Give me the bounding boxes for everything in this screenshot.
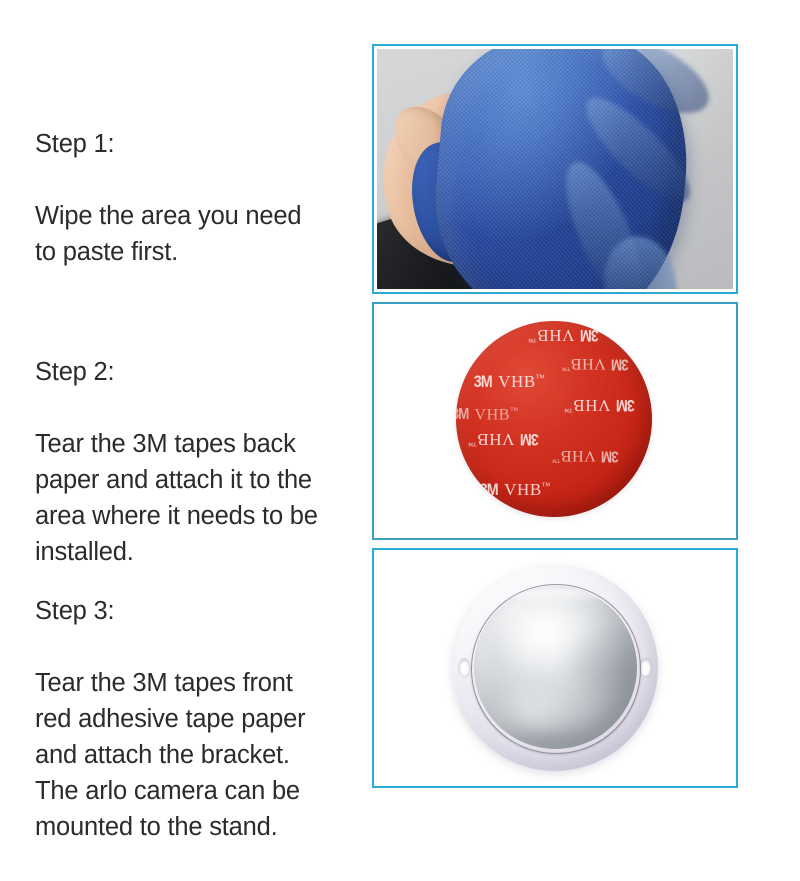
vhb-watermark-brand: 3M (521, 431, 539, 448)
vhb-watermark-tm: ™ (510, 406, 518, 415)
vhb-watermark-brand: 3M (456, 407, 468, 423)
vhb-watermark: 3M VHB™ (468, 431, 541, 448)
steps-text-column: Step 1: Wipe the area you need to paste … (0, 0, 372, 800)
step-2-body: Tear the 3M tapes back paper and attach … (35, 426, 365, 570)
vhb-watermark-tm: ™ (536, 372, 545, 382)
step-1-heading: Step 1: (35, 126, 365, 162)
vhb-watermark-tm: ™ (564, 405, 573, 415)
wiping-surface-photo (377, 49, 733, 289)
step-3-body: Tear the 3M tapes front red adhesive tap… (35, 665, 365, 845)
dome-shadow (562, 615, 637, 729)
step-3-image-panel (372, 548, 738, 788)
step-1-text-block: Step 1: Wipe the area you need to paste … (35, 90, 365, 306)
vhb-watermark-product: VHB (570, 355, 606, 372)
vhb-watermark-tm: ™ (552, 455, 560, 464)
vhb-watermark-product: VHB (477, 430, 515, 449)
magnetic-dome (474, 586, 637, 749)
step-2-image-panel: 3M VHB™ 3M VHB™ 3M VHB™ 3M VHB™ (372, 302, 738, 540)
vhb-watermark-tm: ™ (468, 439, 477, 449)
vhb-watermark: 3M VHB™ (478, 481, 551, 498)
vhb-watermark-tm: ™ (528, 335, 537, 345)
step-1-body: Wipe the area you need to paste first. (35, 198, 365, 270)
instruction-sheet: Step 1: Wipe the area you need to paste … (0, 0, 800, 800)
vhb-watermark-tm: ™ (542, 480, 551, 490)
dome-top-highlight (510, 588, 602, 604)
screw-hole (459, 659, 470, 676)
vhb-watermark-brand: 3M (581, 327, 599, 344)
vhb-watermark-product: VHB (573, 396, 611, 415)
vhb-adhesive-disc-photo: 3M VHB™ 3M VHB™ 3M VHB™ 3M VHB™ (377, 307, 733, 535)
step-3-text-block: Step 3: Tear the 3M tapes front red adhe… (35, 557, 365, 881)
vhb-watermark-product: VHB (560, 447, 596, 464)
cloth-fold (551, 153, 656, 289)
vhb-watermark: 3M VHB™ (456, 407, 518, 423)
step-3-image-frame (377, 553, 733, 783)
vhb-watermark: 3M VHB™ (552, 447, 620, 463)
step-3-heading: Step 3: (35, 593, 365, 629)
vhb-watermark-brand: 3M (612, 355, 629, 371)
vhb-watermark-product: VHB (537, 326, 575, 345)
vhb-watermark-brand: 3M (474, 373, 492, 390)
camera-mount-bracket-photo (377, 553, 733, 783)
step-1-image-frame (377, 49, 733, 289)
vhb-watermark: 3M VHB™ (528, 327, 601, 344)
vhb-watermark-brand: 3M (480, 481, 498, 498)
dome-bottom-shadow (504, 734, 608, 748)
microfiber-cloth (425, 49, 697, 289)
cloth-fold (599, 232, 682, 289)
step-2-heading: Step 2: (35, 354, 365, 390)
step-1-image-panel (372, 44, 738, 294)
screw-hole (640, 659, 651, 676)
vhb-watermark-product: VHB (474, 406, 510, 423)
vhb-watermark-product: VHB (504, 480, 542, 499)
vhb-watermark: 3M VHB™ (562, 355, 630, 371)
vhb-watermark: 3M VHB™ (564, 397, 637, 414)
vhb-watermark: 3M VHB™ (472, 373, 545, 390)
step-2-image-frame: 3M VHB™ 3M VHB™ 3M VHB™ 3M VHB™ (377, 307, 733, 535)
vhb-watermark-product: VHB (498, 372, 536, 391)
vhb-watermark-tm: ™ (562, 363, 570, 372)
vhb-watermark-brand: 3M (617, 397, 635, 414)
vhb-adhesive-disc: 3M VHB™ 3M VHB™ 3M VHB™ 3M VHB™ (456, 321, 652, 517)
vhb-watermark-brand: 3M (602, 447, 619, 463)
